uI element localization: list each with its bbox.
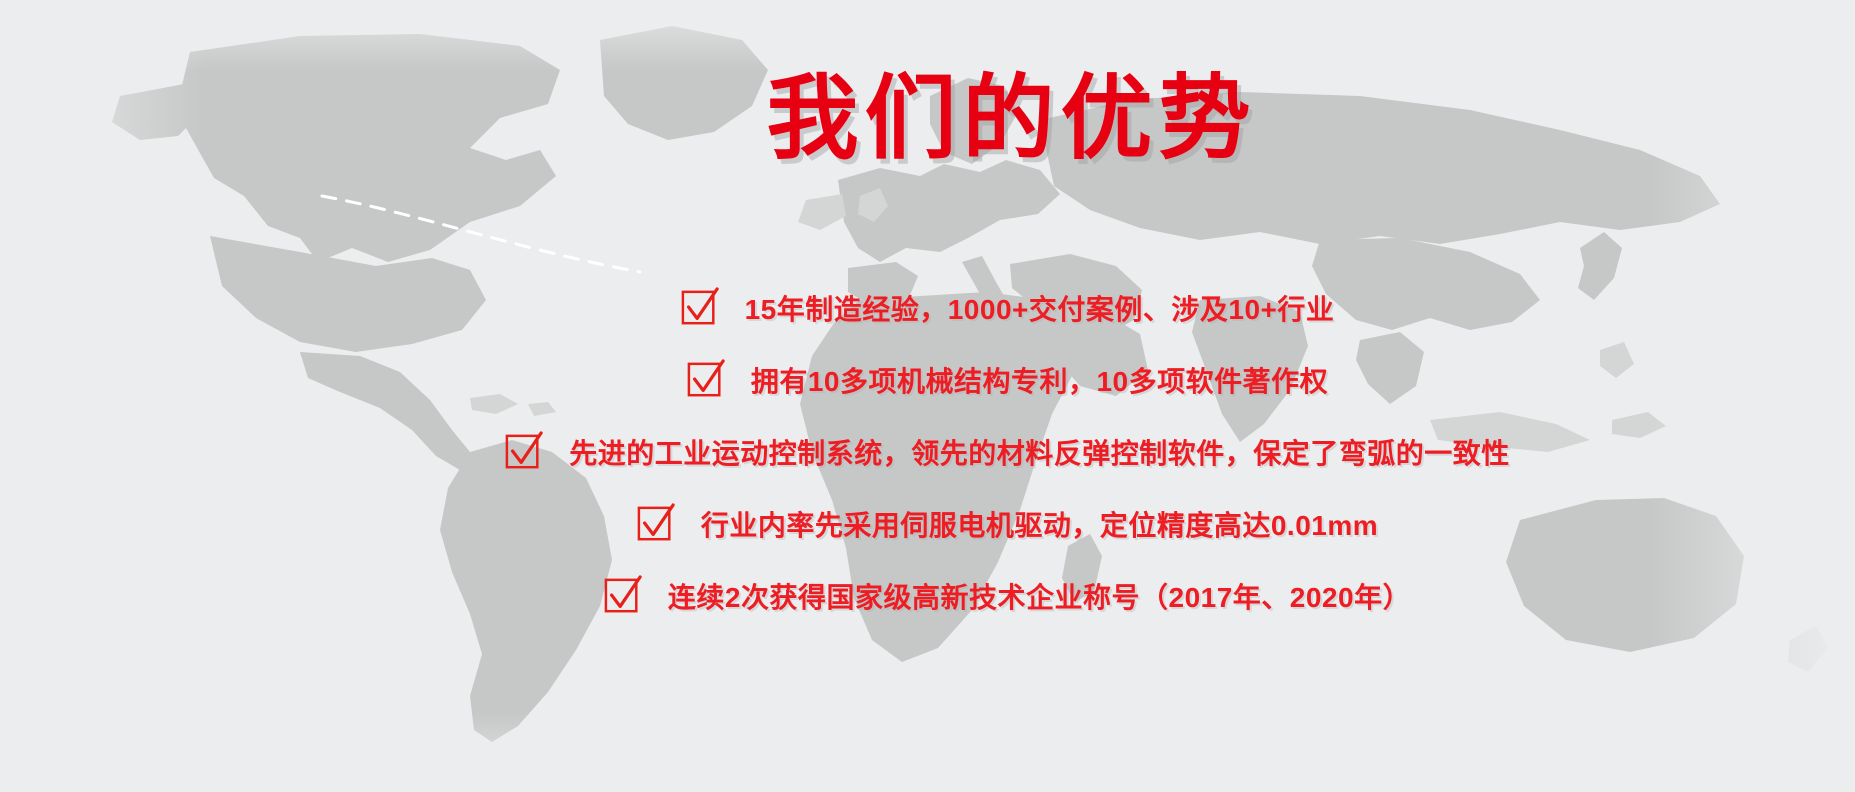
list-item: 15年制造经验，1000+交付案例、涉及10+行业 xyxy=(0,272,1855,344)
checkbox-checked-icon xyxy=(604,577,642,615)
list-item-label: 连续2次获得国家级高新技术企业称号（2017年、2020年） xyxy=(668,576,1411,616)
list-item: 先进的工业运动控制系统，领先的材料反弹控制软件，保定了弯弧的一致性 xyxy=(0,416,1855,488)
advantages-banner: 我们的优势 15年制造经验，1000+交付案例、涉及10+行业 xyxy=(0,0,1855,792)
list-item-label: 15年制造经验，1000+交付案例、涉及10+行业 xyxy=(745,288,1335,328)
banner-content: 我们的优势 15年制造经验，1000+交付案例、涉及10+行业 xyxy=(0,0,1855,792)
checkbox-checked-icon xyxy=(681,289,719,327)
checkbox-checked-icon xyxy=(687,361,725,399)
list-item-label: 行业内率先采用伺服电机驱动，定位精度高达0.01mm xyxy=(701,504,1378,544)
page-title: 我们的优势 xyxy=(0,73,1855,165)
list-item: 连续2次获得国家级高新技术企业称号（2017年、2020年） xyxy=(0,560,1855,632)
list-item-label: 拥有10多项机械结构专利，10多项软件著作权 xyxy=(751,360,1328,400)
checkbox-checked-icon xyxy=(637,505,675,543)
list-item-label: 先进的工业运动控制系统，领先的材料反弹控制软件，保定了弯弧的一致性 xyxy=(569,432,1510,472)
advantages-list: 15年制造经验，1000+交付案例、涉及10+行业 拥有10多项机械结构专利，1… xyxy=(0,272,1855,632)
list-item: 行业内率先采用伺服电机驱动，定位精度高达0.01mm xyxy=(0,488,1855,560)
checkbox-checked-icon xyxy=(505,433,543,471)
list-item: 拥有10多项机械结构专利，10多项软件著作权 xyxy=(0,344,1855,416)
